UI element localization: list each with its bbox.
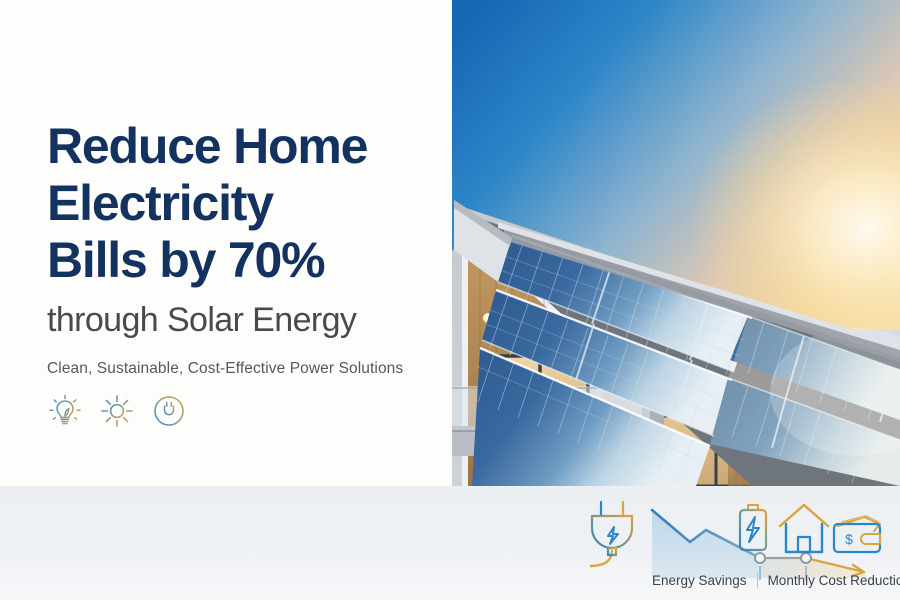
solar-promo-slide: Reduce Home Electricity Bills by 70% thr…	[0, 0, 900, 600]
bottom-bar-legend: Energy Savings Monthly Cost Reduction	[652, 573, 900, 588]
hero-image-solar-house	[452, 0, 900, 486]
legend-label-energy-savings: Energy Savings	[652, 573, 747, 588]
subtitle: through Solar Energy	[47, 301, 356, 340]
headline-line-3: Bills by 70%	[47, 232, 447, 289]
plug-circle-icon	[150, 392, 188, 430]
tagline: Clean, Sustainable, Cost-Effective Power…	[47, 360, 403, 378]
legend-label-monthly-cost-reduction: Monthly Cost Reduction	[768, 573, 900, 588]
headline-line-2: Electricity	[47, 175, 447, 232]
page-title: Reduce Home Electricity Bills by 70%	[47, 118, 447, 289]
left-text-panel: Reduce Home Electricity Bills by 70% thr…	[0, 0, 452, 486]
legend-divider	[757, 573, 758, 588]
eco-lightbulb-icon	[46, 392, 84, 430]
svg-text:$: $	[845, 531, 853, 547]
feature-icon-row	[46, 392, 188, 430]
headline-line-1: Reduce Home	[47, 118, 447, 175]
sun-icon	[98, 392, 136, 430]
